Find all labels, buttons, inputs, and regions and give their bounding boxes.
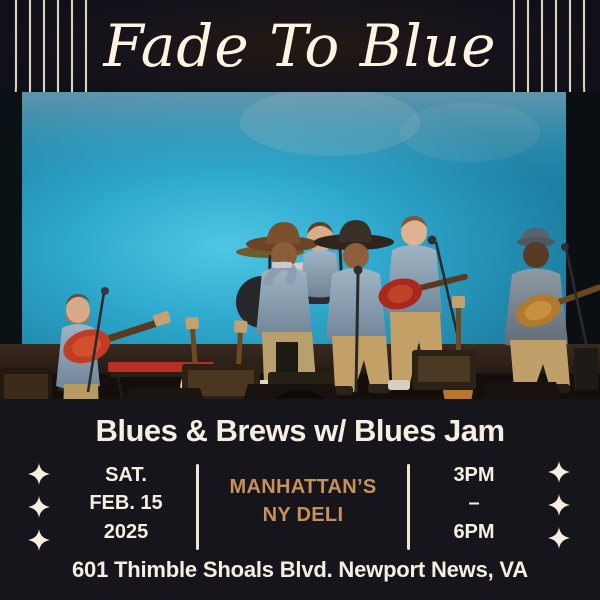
event-year: 2025	[62, 518, 190, 546]
event-month-day: FEB. 15	[62, 489, 190, 517]
venue-address: 601 Thimble Shoals Blvd. Newport News, V…	[0, 557, 600, 583]
time-end: 6PM	[420, 518, 528, 546]
event-details-row: SAT. FEB. 15 2025 MANHATTAN’S NY DELI 3P…	[0, 459, 600, 554]
sparkle-icon	[28, 463, 50, 485]
event-day: SAT.	[62, 461, 190, 489]
sparkle-icon	[548, 494, 570, 516]
sparkles-left	[28, 461, 52, 553]
stage-photo	[0, 92, 600, 399]
time-separator: –	[420, 489, 528, 517]
event-date: SAT. FEB. 15 2025	[62, 461, 190, 546]
divider-right	[407, 464, 410, 550]
venue-line-1: MANHATTAN’S	[205, 473, 401, 501]
poster-header: Fade To Blue	[0, 0, 600, 92]
sparkles-right	[548, 461, 572, 553]
event-info-panel: Blues & Brews w/ Blues Jam SAT. FEB. 15 …	[0, 399, 600, 600]
sparkle-icon	[28, 496, 50, 518]
event-title: Blues & Brews w/ Blues Jam	[0, 413, 600, 449]
event-venue: MANHATTAN’S NY DELI	[205, 473, 401, 530]
sparkle-icon	[28, 529, 50, 551]
venue-line-2: NY DELI	[205, 501, 401, 529]
event-poster: Fade To Blue	[0, 0, 600, 600]
event-time: 3PM – 6PM	[420, 461, 528, 546]
time-start: 3PM	[420, 461, 528, 489]
divider-left	[196, 464, 199, 550]
sparkle-icon	[548, 461, 570, 483]
band-name-title: Fade To Blue	[0, 3, 600, 89]
sparkle-icon	[548, 527, 570, 549]
